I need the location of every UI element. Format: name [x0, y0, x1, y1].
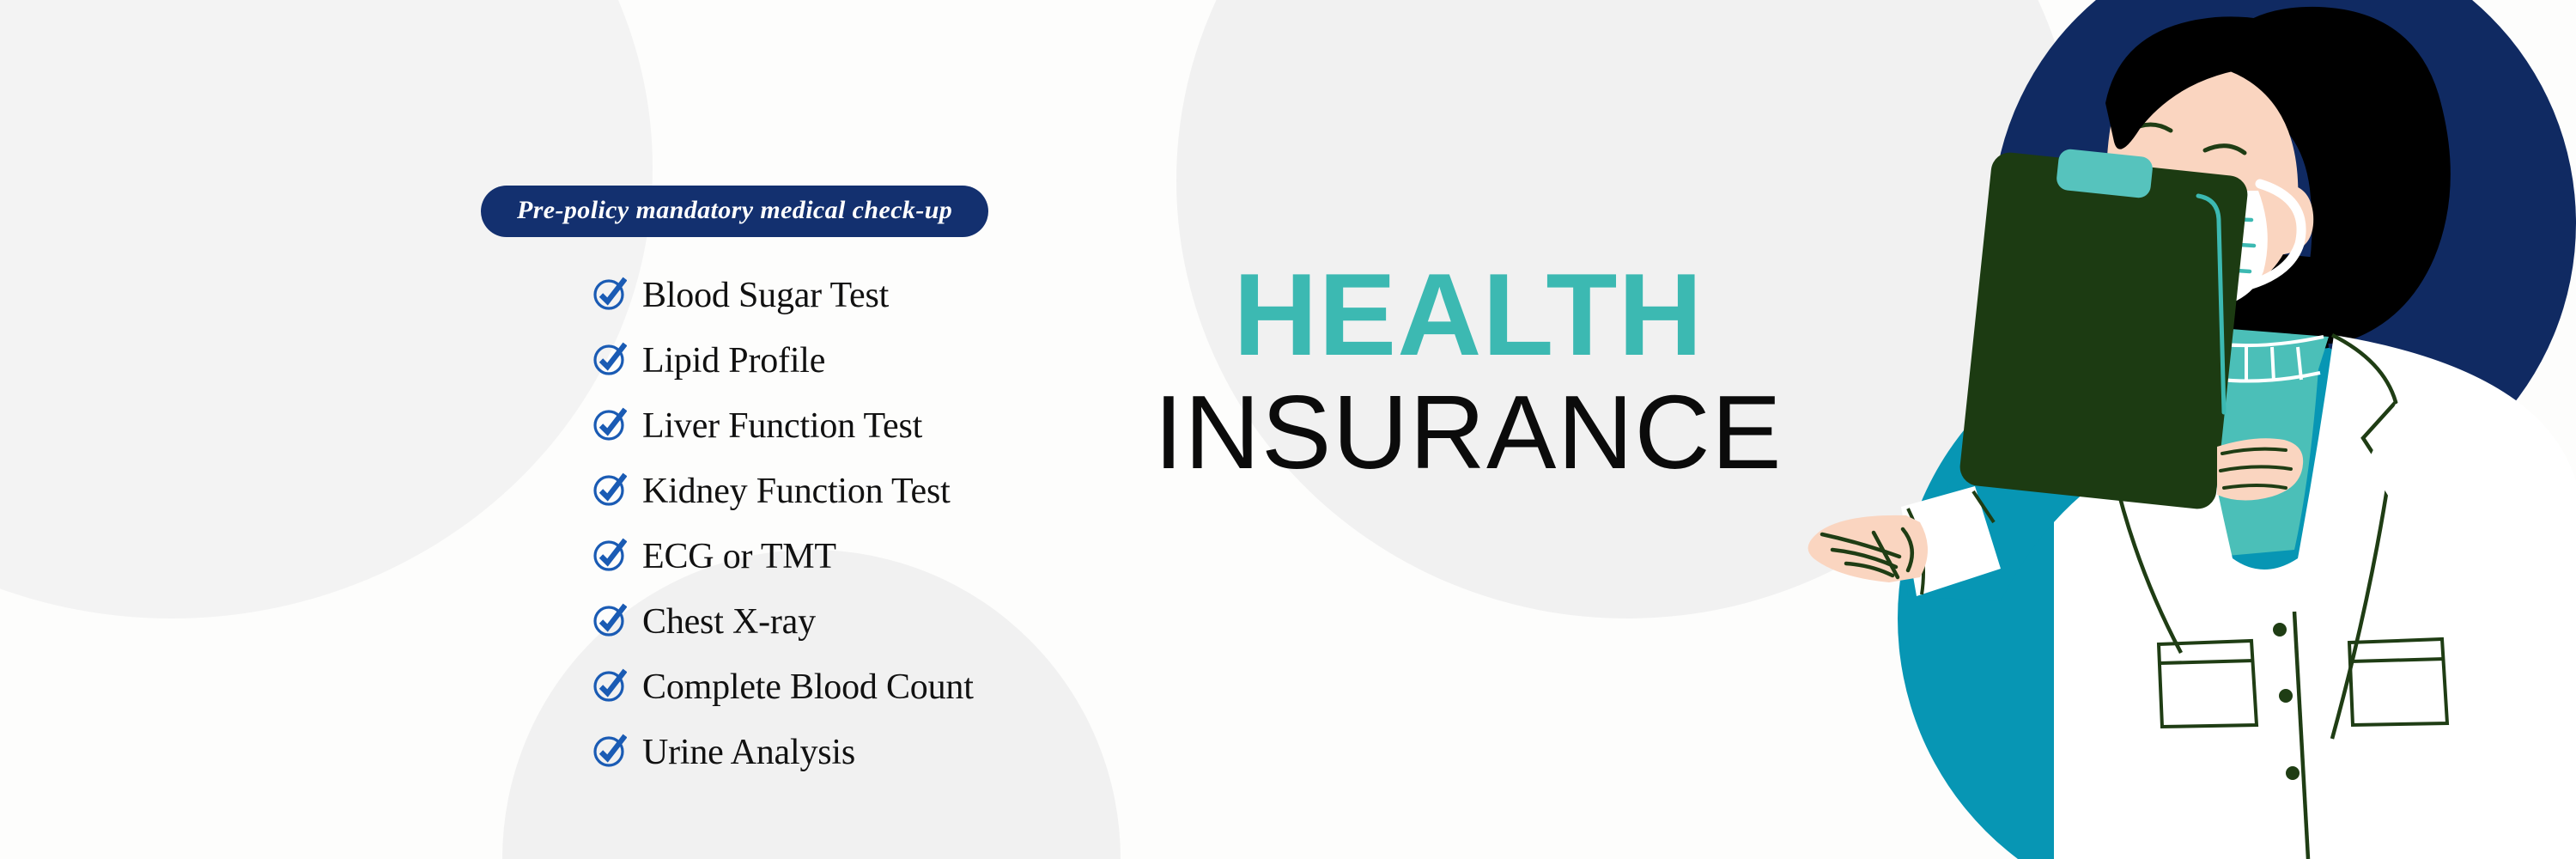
check-circle-icon — [592, 668, 627, 703]
lab-coat-button-2 — [2279, 689, 2293, 703]
list-item-label: Complete Blood Count — [642, 669, 974, 705]
pre-policy-badge: Pre-policy mandatory medical check-up — [481, 186, 988, 237]
list-item-label: ECG or TMT — [642, 539, 836, 575]
lab-coat-button-3 — [2286, 766, 2300, 780]
list-item-label: Blood Sugar Test — [642, 277, 889, 314]
medical-tests-list: Blood Sugar Test Lipid Profile Liver Fun… — [481, 263, 1116, 785]
list-item-label: Urine Analysis — [642, 734, 855, 771]
list-item: Lipid Profile — [481, 328, 1116, 393]
check-circle-icon — [592, 407, 627, 442]
list-item: Chest X-ray — [481, 589, 1116, 655]
checklist-panel: Pre-policy mandatory medical check-up Bl… — [481, 186, 1116, 785]
left-open-hand — [1808, 515, 1928, 582]
health-insurance-banner: Pre-policy mandatory medical check-up Bl… — [0, 0, 2576, 859]
check-circle-icon — [592, 538, 627, 572]
list-item-label: Kidney Function Test — [642, 473, 951, 509]
page-title: HEALTH INSURANCE — [1116, 258, 1820, 486]
check-circle-icon — [592, 342, 627, 376]
list-item: Liver Function Test — [481, 393, 1116, 459]
list-item: ECG or TMT — [481, 524, 1116, 589]
list-item: Urine Analysis — [481, 720, 1116, 785]
clipboard — [1958, 148, 2249, 510]
list-item: Blood Sugar Test — [481, 263, 1116, 328]
list-item-label: Liver Function Test — [642, 408, 922, 444]
list-item-label: Lipid Profile — [642, 343, 825, 379]
headline-line-insurance: INSURANCE — [1116, 379, 1820, 485]
list-item-label: Chest X-ray — [642, 604, 816, 640]
check-circle-icon — [592, 277, 627, 311]
lab-coat-button-1 — [2273, 623, 2287, 637]
clipboard-board — [1958, 150, 2249, 510]
list-item: Complete Blood Count — [481, 655, 1116, 720]
doctor-illustration — [1717, 0, 2576, 859]
list-item: Kidney Function Test — [481, 459, 1116, 524]
headline-line-health: HEALTH — [1116, 258, 1820, 372]
check-circle-icon — [592, 603, 627, 637]
check-circle-icon — [592, 472, 627, 507]
check-circle-icon — [592, 734, 627, 768]
